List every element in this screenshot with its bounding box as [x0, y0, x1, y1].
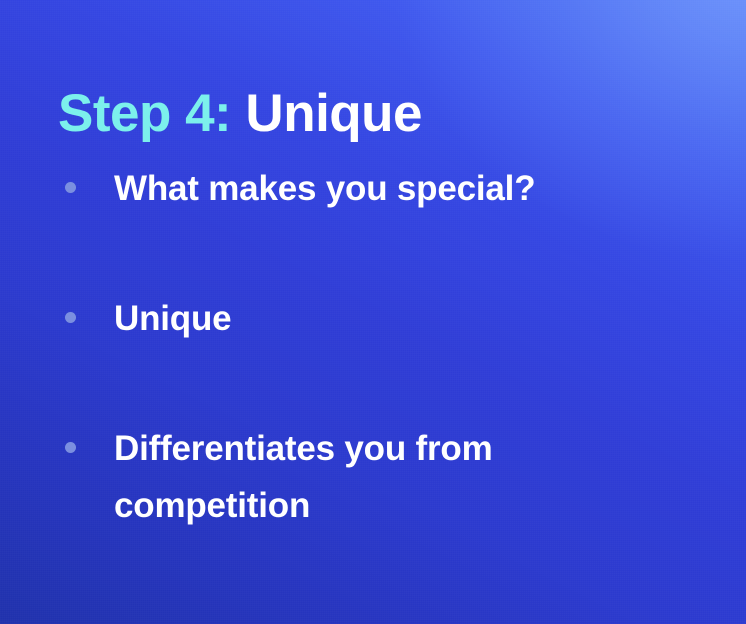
presentation-slide: Step 4: Unique What makes you special? U… — [0, 0, 746, 624]
slide-title-accent: Step 4: — [58, 84, 231, 143]
bullet-item-label: What makes you special? — [114, 160, 678, 218]
bullet-item: What makes you special? — [58, 160, 678, 218]
bullet-dot-icon — [65, 442, 76, 453]
bullet-item-label: Differentiates you from competition — [114, 420, 594, 536]
bullet-list: What makes you special? Unique Different… — [58, 160, 678, 535]
bullet-item-label: Unique — [114, 290, 678, 348]
slide-content: Step 4: Unique What makes you special? U… — [0, 0, 746, 624]
bullet-dot-icon — [65, 312, 76, 323]
bullet-item: Unique — [58, 290, 678, 348]
bullet-dot-icon — [65, 182, 76, 193]
slide-title-main: Unique — [231, 84, 422, 143]
bullet-item: Differentiates you from competition — [58, 420, 678, 536]
slide-title: Step 4: Unique — [58, 84, 422, 143]
